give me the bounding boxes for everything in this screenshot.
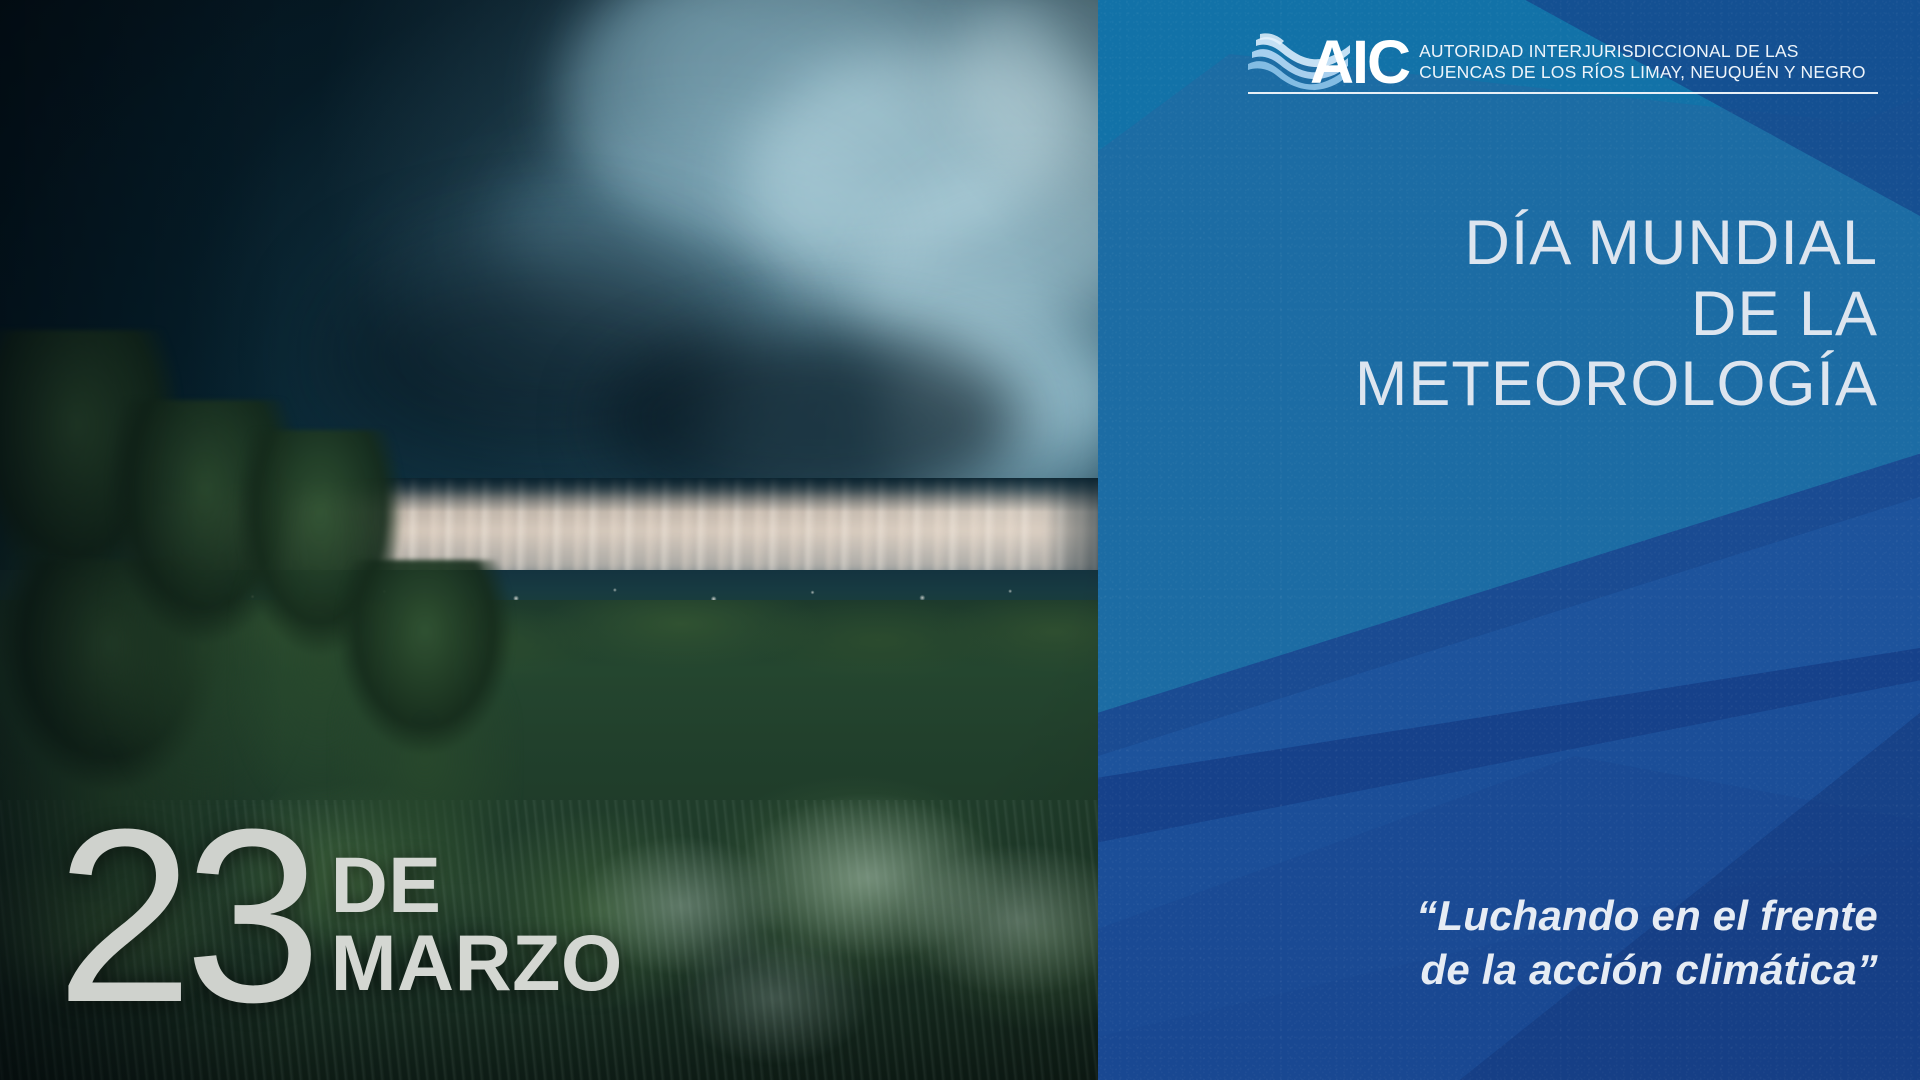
title-line-1: DÍA MUNDIAL: [1178, 208, 1878, 279]
aic-logo-letters: AIC: [1310, 32, 1409, 93]
blue-graphic-panel: AIC AUTORIDAD INTERJURISDICCIONAL DE LAS…: [1098, 0, 1920, 1080]
logo-underline-rule: [1248, 92, 1878, 94]
quote-line-2: de la acción climática”: [1178, 943, 1878, 998]
organization-line-1: AUTORIDAD INTERJURISDICCIONAL DE LAS: [1419, 41, 1866, 62]
date-day-number: 23: [56, 818, 313, 1016]
organization-name: AUTORIDAD INTERJURISDICCIONAL DE LAS CUE…: [1419, 41, 1866, 82]
title-line-2: DE LA: [1178, 279, 1878, 350]
quote-line-1: “Luchando en el frente: [1178, 889, 1878, 944]
aic-logo-lockup[interactable]: AIC AUTORIDAD INTERJURISDICCIONAL DE LAS…: [1246, 28, 1866, 93]
organization-line-2: CUENCAS DE LOS RÍOS LIMAY, NEUQUÉN Y NEG…: [1419, 62, 1866, 83]
date-block: 23 DE MARZO: [56, 818, 623, 1016]
date-preposition: DE: [331, 846, 623, 924]
date-month-group: DE MARZO: [331, 846, 623, 1002]
event-title: DÍA MUNDIAL DE LA METEOROLOGÍA: [1178, 208, 1878, 420]
event-slogan-quote: “Luchando en el frente de la acción clim…: [1178, 889, 1878, 998]
title-line-3: METEOROLOGÍA: [1178, 349, 1878, 420]
poster-canvas: 23 DE MARZO AIC AUTORIDAD: [0, 0, 1920, 1080]
date-month-name: MARZO: [331, 924, 623, 1002]
